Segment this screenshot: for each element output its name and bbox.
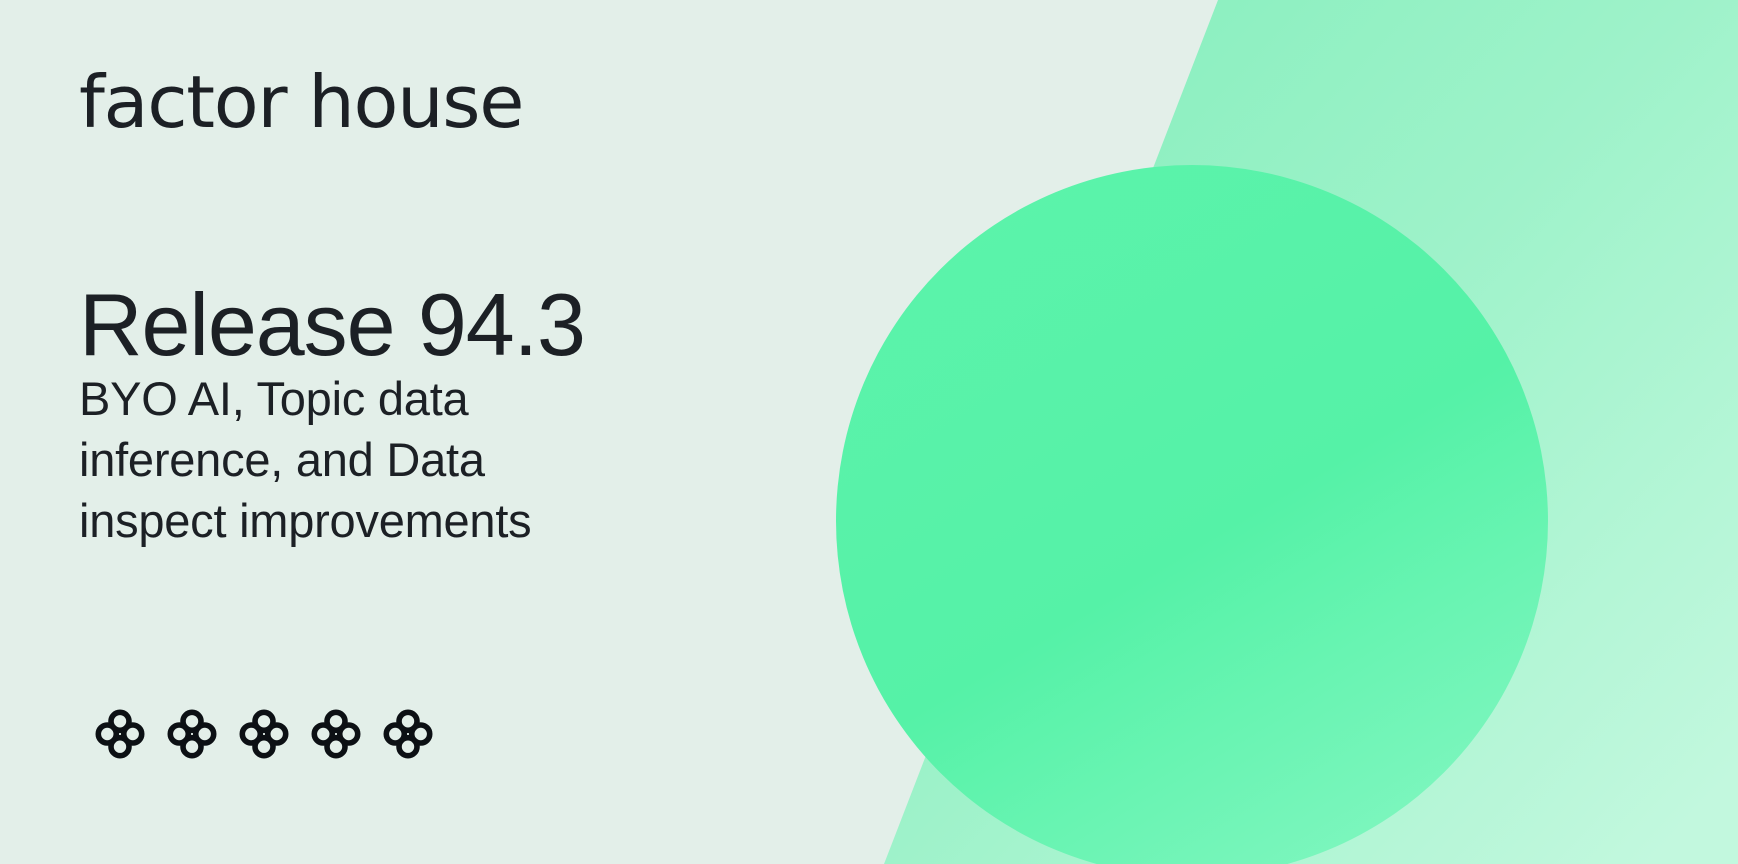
subtitle-line-1: BYO AI, Topic data xyxy=(79,368,719,429)
green-wedge-shape xyxy=(884,0,1738,864)
subtitle-line-3: inspect improvements xyxy=(79,490,719,551)
lattice-diamond-icon xyxy=(161,703,223,765)
page-subtitle: BYO AI, Topic data inference, and Data i… xyxy=(79,368,719,551)
lattice-diamond-icon xyxy=(377,703,439,765)
lattice-diamond-icon xyxy=(305,703,367,765)
brand-wordmark: factor house xyxy=(79,66,523,138)
lattice-glyph-row xyxy=(89,703,439,765)
green-circle-shape xyxy=(836,165,1548,864)
content-column: factor house Release 94.3 BYO AI, Topic … xyxy=(79,0,799,864)
release-banner: factor house Release 94.3 BYO AI, Topic … xyxy=(0,0,1738,864)
subtitle-line-2: inference, and Data xyxy=(79,429,719,490)
lattice-diamond-icon xyxy=(89,703,151,765)
page-title: Release 94.3 xyxy=(79,280,585,370)
lattice-diamond-icon xyxy=(233,703,295,765)
